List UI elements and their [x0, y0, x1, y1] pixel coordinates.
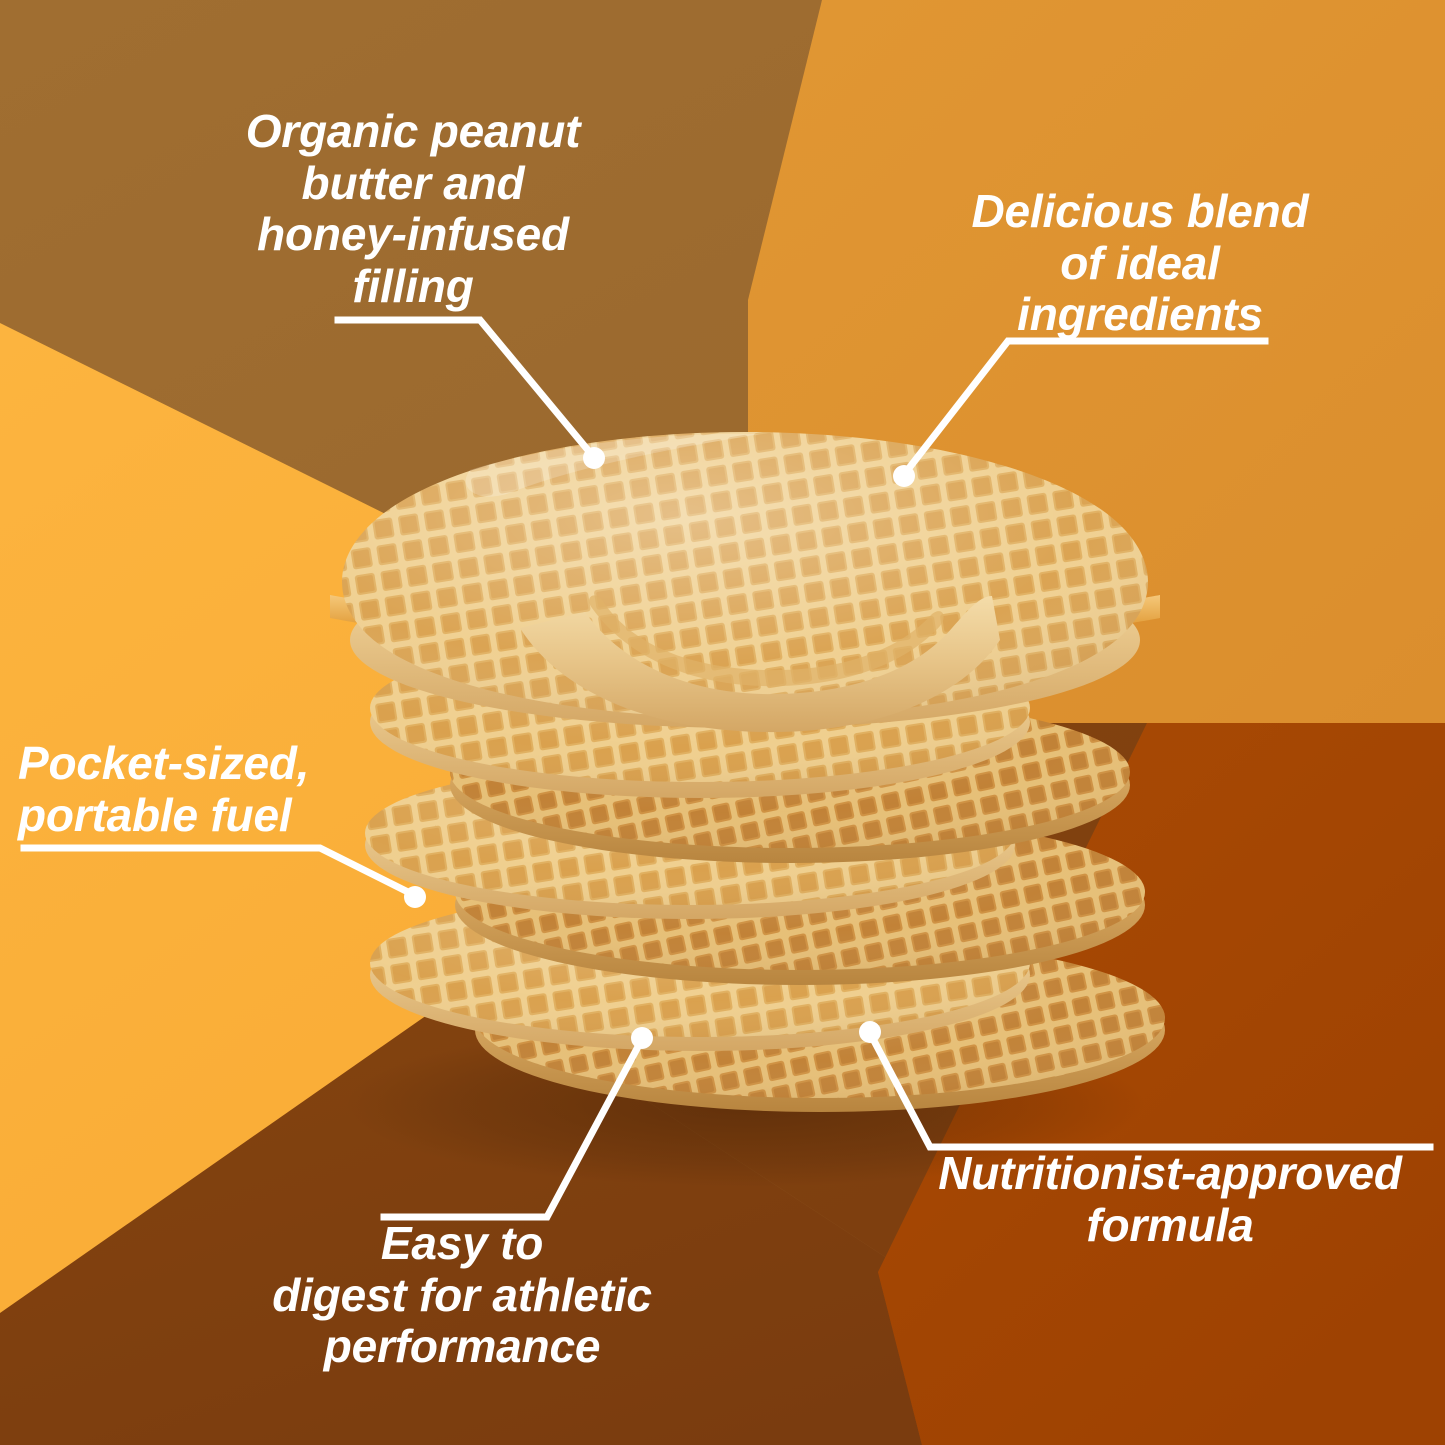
callout-label-filling: Organic peanut butter and honey-infused … — [178, 106, 648, 312]
callout-label-digest: Easy to digest for athletic performance — [232, 1218, 692, 1373]
callout-dot-digest — [631, 1027, 653, 1049]
callout-line-digest — [384, 1027, 653, 1217]
callout-line-portable — [24, 848, 426, 908]
product-infographic: Organic peanut butter and honey-infused … — [0, 0, 1445, 1445]
callout-dot-portable — [404, 886, 426, 908]
callout-label-nutritionist: Nutritionist-approved formula — [905, 1148, 1435, 1251]
callout-line-ingredients — [893, 341, 1265, 487]
callout-dot-filling — [583, 447, 605, 469]
callout-dot-ingredients — [893, 465, 915, 487]
callout-line-filling — [338, 320, 605, 469]
callout-label-portable: Pocket-sized, portable fuel — [18, 738, 368, 841]
callout-dot-nutritionist — [859, 1021, 881, 1043]
callout-label-ingredients: Delicious blend of ideal ingredients — [930, 186, 1350, 341]
callout-line-nutritionist — [859, 1021, 1430, 1147]
